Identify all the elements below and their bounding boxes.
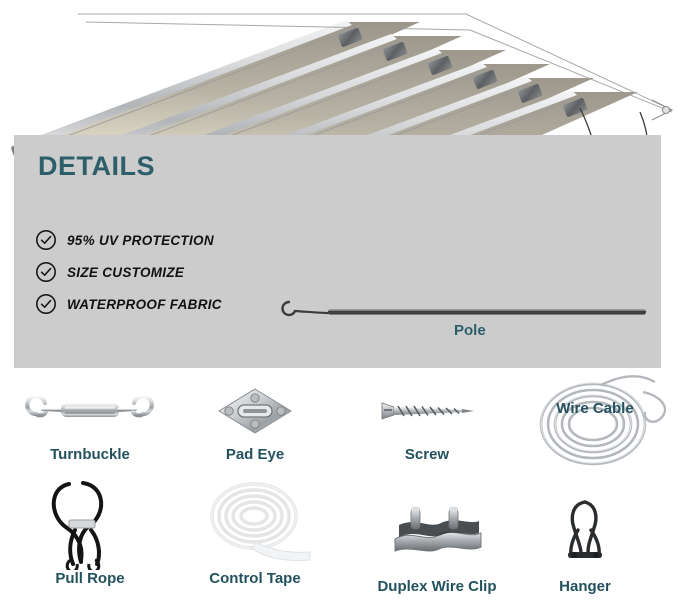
hanger-icon [500,486,670,574]
pole-label: Pole [454,322,486,339]
feature-item: WATERPROOF FABRIC [35,289,222,319]
details-title: DETAILS [38,151,155,182]
part-item-control-tape: Control Tape [170,492,340,587]
infographic-stage: DETAILS 95% UV PROTECTION [0,0,679,611]
pad-eye-icon [170,380,340,442]
part-item-pad-eye: Pad Eye [170,380,340,463]
turnbuckle-icon [5,380,175,442]
part-item-turnbuckle: Turnbuckle [5,380,175,463]
part-label: Turnbuckle [5,446,175,463]
part-item-wire-cable: Wire Cable [500,380,679,463]
feature-label: SIZE CUSTOMIZE [67,265,184,280]
part-item-screw: Screw [342,380,512,463]
feature-label: WATERPROOF FABRIC [67,297,222,312]
pull-rope-icon [5,478,175,566]
check-circle-icon [35,293,57,315]
screw-icon [342,380,512,442]
part-label: Wire Cable [500,400,679,417]
part-item-pull-rope: Pull Rope [5,492,175,587]
part-label: Control Tape [170,570,340,587]
feature-item: 95% UV PROTECTION [35,225,222,255]
check-circle-icon [35,261,57,283]
end-anchor [652,100,672,120]
details-panel: DETAILS 95% UV PROTECTION [14,135,661,368]
part-item-hanger: Hanger [500,492,670,595]
control-tape-icon [170,478,340,566]
part-label: Pull Rope [5,570,175,587]
parts-grid: Turnbuckle [0,380,679,611]
feature-item: SIZE CUSTOMIZE [35,257,222,287]
part-label: Pad Eye [170,446,340,463]
feature-label: 95% UV PROTECTION [67,233,214,248]
check-circle-icon [35,229,57,251]
part-label: Hanger [500,578,670,595]
feature-list: 95% UV PROTECTION SIZE CUSTOMIZE [35,225,222,321]
part-label: Screw [342,446,512,463]
